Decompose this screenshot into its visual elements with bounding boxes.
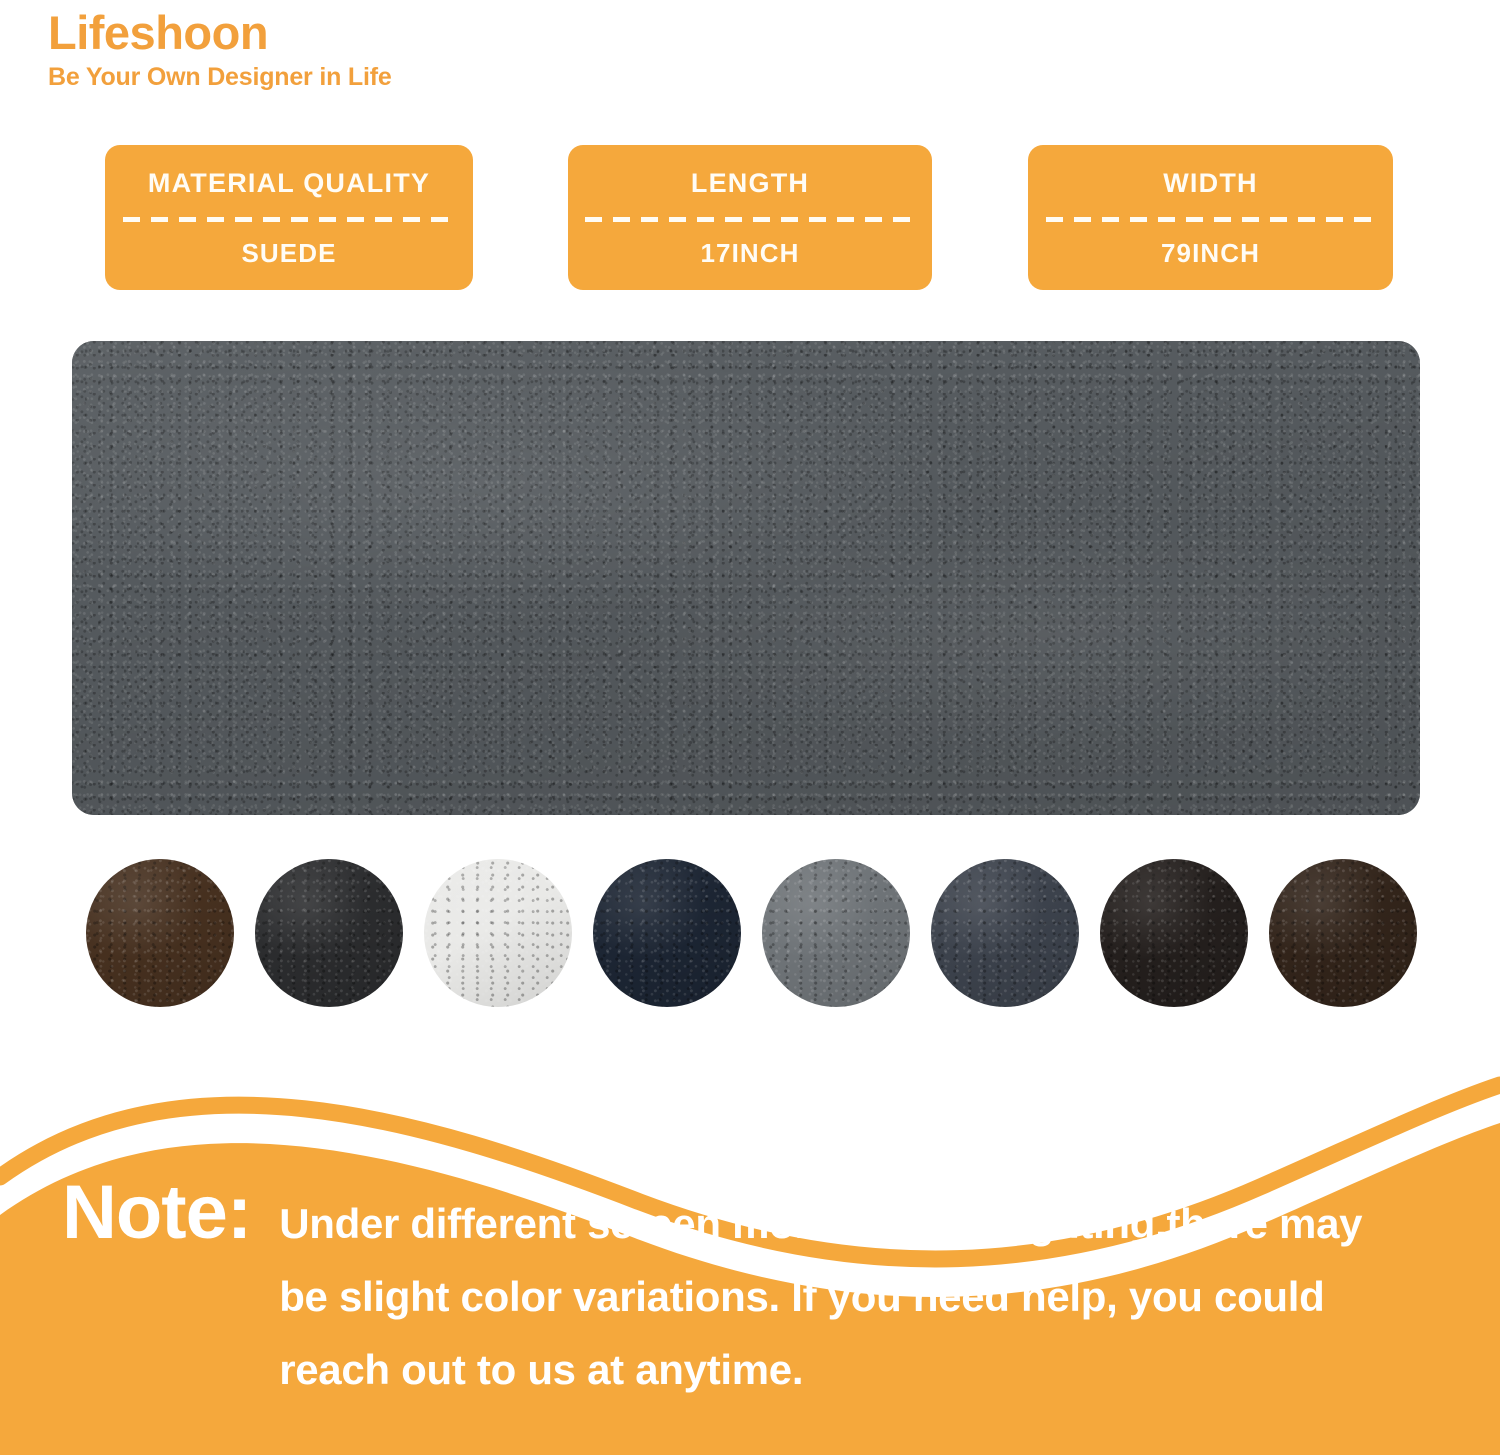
spec-badge-title: MATERIAL QUALITY	[148, 170, 430, 197]
spec-badge-width: WIDTH 79INCH	[1028, 145, 1393, 290]
spec-badge-value: 17INCH	[700, 240, 799, 266]
swatch-shading	[86, 859, 234, 1007]
brand-tagline: Be Your Own Designer in Life	[48, 63, 392, 92]
spec-badge-length: LENGTH 17INCH	[568, 145, 932, 290]
spec-badge-material-quality: MATERIAL QUALITY SUEDE	[105, 145, 473, 290]
swatch-shading	[1100, 859, 1248, 1007]
dashed-divider-icon	[123, 217, 455, 222]
swatch-shading	[424, 859, 572, 1007]
dashed-divider-icon	[585, 217, 915, 222]
note-content: Note: Under different screen monitors an…	[0, 1175, 1500, 1406]
note-label: Note:	[62, 1175, 251, 1251]
note-section: Note: Under different screen monitors an…	[0, 1065, 1500, 1455]
swatch-shading	[593, 859, 741, 1007]
note-body-text: Under different screen monitors and ligh…	[279, 1187, 1389, 1406]
color-swatch-ivory-white[interactable]	[424, 859, 572, 1007]
swatch-shading	[1269, 859, 1417, 1007]
swatch-shading	[931, 859, 1079, 1007]
color-swatch-slate-blue-gray[interactable]	[931, 859, 1079, 1007]
color-swatch-charcoal-black[interactable]	[255, 859, 403, 1007]
spec-badge-row: MATERIAL QUALITY SUEDE LENGTH 17INCH WID…	[105, 145, 1395, 290]
spec-badge-title: LENGTH	[691, 170, 809, 197]
color-swatch-dark-brown[interactable]	[86, 859, 234, 1007]
spec-badge-value: SUEDE	[241, 240, 336, 266]
color-swatch-medium-gray[interactable]	[762, 859, 910, 1007]
swatch-shading	[255, 859, 403, 1007]
color-swatch-near-black[interactable]	[1100, 859, 1248, 1007]
spec-badge-title: WIDTH	[1163, 170, 1257, 197]
color-swatch-row	[0, 859, 1500, 1007]
dashed-divider-icon	[1046, 217, 1376, 222]
product-image-sheen	[72, 341, 1420, 815]
spec-badge-value: 79INCH	[1161, 240, 1260, 266]
color-swatch-navy-blue[interactable]	[593, 859, 741, 1007]
brand-header: Lifeshoon Be Your Own Designer in Life	[48, 8, 392, 92]
swatch-shading	[762, 859, 910, 1007]
color-swatch-coffee-brown[interactable]	[1269, 859, 1417, 1007]
brand-name: Lifeshoon	[48, 8, 392, 57]
product-image	[72, 341, 1420, 815]
